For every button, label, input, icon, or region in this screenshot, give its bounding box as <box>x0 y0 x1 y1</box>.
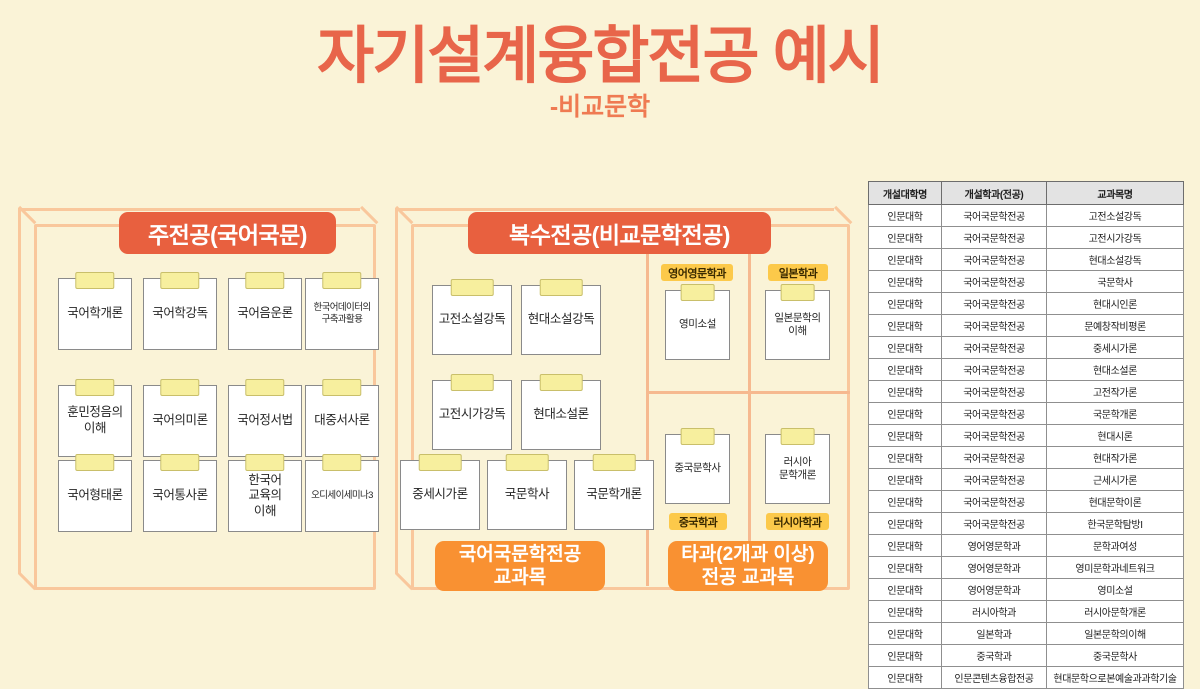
card-tab-icon <box>322 272 361 289</box>
table-cell-department: 국어국문학전공 <box>942 381 1047 403</box>
course-table: 개설대학명 개설학과(전공) 교과목명 인문대학국어국문학전공고전소설강독인문대… <box>868 181 1184 689</box>
table-cell-college: 인문대학 <box>869 491 942 513</box>
course-label: 국어음운론 <box>234 306 296 322</box>
table-cell-college: 인문대학 <box>869 205 942 227</box>
footer-other-dept-courses[interactable]: 타과(2개과 이상)전공 교과목 <box>668 541 828 591</box>
title-area: 자기설계융합전공 예시 -비교문학 <box>0 24 1200 120</box>
course-card[interactable]: 국어음운론 <box>228 278 302 350</box>
card-tab-icon <box>160 454 199 471</box>
section-header-double-major[interactable]: 복수전공(비교문학전공) <box>468 212 771 254</box>
table-cell-course: 러시아문학개론 <box>1047 601 1184 623</box>
course-label: 한국어교육의이해 <box>245 473 284 520</box>
course-label: 국어학개론 <box>64 306 126 322</box>
course-card[interactable]: 국문학사 <box>487 460 567 530</box>
table-row: 인문대학국어국문학전공고전시가강독 <box>869 227 1184 249</box>
course-label: 국문학개론 <box>583 487 645 503</box>
card-tab-icon <box>780 428 815 445</box>
table-cell-course: 한국문학탐방I <box>1047 513 1184 535</box>
table-cell-department: 국어국문학전공 <box>942 227 1047 249</box>
course-label: 대중서사론 <box>311 413 373 429</box>
table-row: 인문대학국어국문학전공현대시인론 <box>869 293 1184 315</box>
course-card[interactable]: 고전시가강독 <box>432 380 512 450</box>
table-cell-course: 근세시가론 <box>1047 469 1184 491</box>
double-major-vertical-divider <box>646 226 649 586</box>
course-card[interactable]: 오디세이세미나3 <box>305 460 379 532</box>
course-label: 영미소설 <box>676 318 719 331</box>
table-cell-college: 인문대학 <box>869 403 942 425</box>
table-cell-course: 영미소설 <box>1047 579 1184 601</box>
table-cell-department: 국어국문학전공 <box>942 205 1047 227</box>
table-cell-college: 인문대학 <box>869 337 942 359</box>
course-card[interactable]: 국어통사론 <box>143 460 217 532</box>
card-tab-icon <box>75 379 114 396</box>
table-cell-course: 고전시가강독 <box>1047 227 1184 249</box>
table-cell-course: 고전소설강독 <box>1047 205 1184 227</box>
course-card[interactable]: 한국어교육의이해 <box>228 460 302 532</box>
course-label: 훈민정음의이해 <box>64 405 126 436</box>
table-cell-course: 현대시론 <box>1047 425 1184 447</box>
course-label: 현대소설론 <box>530 407 592 423</box>
course-label: 러시아문학개론 <box>776 456 819 482</box>
table-cell-course: 현대시인론 <box>1047 293 1184 315</box>
table-cell-college: 인문대학 <box>869 601 942 623</box>
table-cell-course: 국문학사 <box>1047 271 1184 293</box>
card-tab-icon <box>322 379 361 396</box>
table-cell-college: 인문대학 <box>869 535 942 557</box>
card-tab-icon <box>680 428 715 445</box>
table-cell-college: 인문대학 <box>869 315 942 337</box>
card-tab-icon <box>245 272 284 289</box>
table-cell-department: 국어국문학전공 <box>942 491 1047 513</box>
table-cell-course: 중세시가론 <box>1047 337 1184 359</box>
table-cell-college: 인문대학 <box>869 425 942 447</box>
course-label: 국어정서법 <box>234 413 296 429</box>
page-subtitle: -비교문학 <box>0 95 1200 120</box>
table-cell-course: 국문학개론 <box>1047 403 1184 425</box>
table-row: 인문대학영어영문학과영미문학과네트워크 <box>869 557 1184 579</box>
course-card[interactable]: 고전소설강독 <box>432 285 512 355</box>
table-cell-college: 인문대학 <box>869 447 942 469</box>
card-tab-icon <box>75 454 114 471</box>
course-label: 현대소설강독 <box>525 312 598 328</box>
table-cell-department: 국어국문학전공 <box>942 359 1047 381</box>
course-label: 국어학강독 <box>149 306 211 322</box>
table-row: 인문대학영어영문학과문학과여성 <box>869 535 1184 557</box>
table-cell-college: 인문대학 <box>869 381 942 403</box>
table-cell-department: 국어국문학전공 <box>942 403 1047 425</box>
course-card[interactable]: 국어학강독 <box>143 278 217 350</box>
table-cell-department: 국어국문학전공 <box>942 425 1047 447</box>
card-tab-icon <box>160 272 199 289</box>
table-row: 인문대학일본학과일본문학의이해 <box>869 623 1184 645</box>
table-cell-department: 러시아학과 <box>942 601 1047 623</box>
table-cell-department: 국어국문학전공 <box>942 293 1047 315</box>
course-label: 국어형태론 <box>64 488 126 504</box>
table-cell-college: 인문대학 <box>869 227 942 249</box>
table-row: 인문대학국어국문학전공국문학사 <box>869 271 1184 293</box>
card-tab-icon <box>75 272 114 289</box>
course-label: 중세시가론 <box>409 487 471 503</box>
table-body: 인문대학국어국문학전공고전소설강독인문대학국어국문학전공고전시가강독인문대학국어… <box>869 205 1184 689</box>
table-cell-department: 중국학과 <box>942 645 1047 667</box>
table-cell-college: 인문대학 <box>869 645 942 667</box>
table-cell-department: 국어국문학전공 <box>942 469 1047 491</box>
table-cell-department: 국어국문학전공 <box>942 315 1047 337</box>
card-tab-icon <box>506 454 549 471</box>
card-tab-icon <box>419 454 462 471</box>
table-cell-department: 국어국문학전공 <box>942 249 1047 271</box>
other-dept-vertical-divider <box>748 226 751 586</box>
table-cell-department: 국어국문학전공 <box>942 271 1047 293</box>
table-cell-college: 인문대학 <box>869 579 942 601</box>
page-title: 자기설계융합전공 예시 <box>0 24 1200 89</box>
table-cell-department: 일본학과 <box>942 623 1047 645</box>
table-row: 인문대학국어국문학전공한국문학탐방I <box>869 513 1184 535</box>
course-card[interactable]: 훈민정음의이해 <box>58 385 132 457</box>
table-row: 인문대학국어국문학전공고전소설강독 <box>869 205 1184 227</box>
card-tab-icon <box>451 279 494 296</box>
table-cell-college: 인문대학 <box>869 359 942 381</box>
table-cell-course: 영미문학과네트워크 <box>1047 557 1184 579</box>
table-header-department: 개설학과(전공) <box>942 182 1047 205</box>
table-cell-college: 인문대학 <box>869 623 942 645</box>
course-card[interactable]: 중국문학사 <box>665 434 730 504</box>
course-card[interactable]: 국어의미론 <box>143 385 217 457</box>
table-row: 인문대학국어국문학전공현대소설론 <box>869 359 1184 381</box>
table-row: 인문대학중국학과중국문학사 <box>869 645 1184 667</box>
table-cell-department: 국어국문학전공 <box>942 513 1047 535</box>
table-row: 인문대학국어국문학전공고전작가론 <box>869 381 1184 403</box>
course-label: 고전시가강독 <box>436 407 509 423</box>
table-cell-college: 인문대학 <box>869 469 942 491</box>
table-header-college: 개설대학명 <box>869 182 942 205</box>
card-tab-icon <box>593 454 636 471</box>
table-cell-college: 인문대학 <box>869 557 942 579</box>
course-label: 고전소설강독 <box>436 312 509 328</box>
course-card[interactable]: 국어형태론 <box>58 460 132 532</box>
card-tab-icon <box>780 284 815 301</box>
card-tab-icon <box>540 374 583 391</box>
table-row: 인문대학국어국문학전공근세시가론 <box>869 469 1184 491</box>
course-label: 국어의미론 <box>149 413 211 429</box>
card-tab-icon <box>322 454 361 471</box>
table-row: 인문대학러시아학과러시아문학개론 <box>869 601 1184 623</box>
table-cell-college: 인문대학 <box>869 293 942 315</box>
table-row: 인문대학국어국문학전공현대소설강독 <box>869 249 1184 271</box>
table-cell-course: 고전작가론 <box>1047 381 1184 403</box>
course-label: 국어통사론 <box>149 488 211 504</box>
table-row: 인문대학국어국문학전공중세시가론 <box>869 337 1184 359</box>
table-cell-course: 현대작가론 <box>1047 447 1184 469</box>
table-row: 인문대학영어영문학과영미소설 <box>869 579 1184 601</box>
course-card[interactable]: 일본문학의이해 <box>765 290 830 360</box>
table-cell-course: 현대문학이론 <box>1047 491 1184 513</box>
course-card[interactable]: 대중서사론 <box>305 385 379 457</box>
course-card[interactable]: 현대소설론 <box>521 380 601 450</box>
card-tab-icon <box>245 379 284 396</box>
course-card[interactable]: 현대소설강독 <box>521 285 601 355</box>
table-cell-course: 현대소설강독 <box>1047 249 1184 271</box>
card-tab-icon <box>245 454 284 471</box>
card-tab-icon <box>540 279 583 296</box>
dept-badge-russian: 러시아학과 <box>766 513 829 530</box>
table-cell-college: 인문대학 <box>869 513 942 535</box>
table-cell-course: 문학과여성 <box>1047 535 1184 557</box>
course-card[interactable]: 국어학개론 <box>58 278 132 350</box>
table-row: 인문대학국어국문학전공현대시론 <box>869 425 1184 447</box>
course-label: 중국문학사 <box>671 462 723 475</box>
table-cell-course: 중국문학사 <box>1047 645 1184 667</box>
course-card[interactable]: 영미소설 <box>665 290 730 360</box>
table-row: 인문대학국어국문학전공국문학개론 <box>869 403 1184 425</box>
table-cell-college: 인문대학 <box>869 271 942 293</box>
table-cell-course: 일본문학의이해 <box>1047 623 1184 645</box>
table-header-row: 개설대학명 개설학과(전공) 교과목명 <box>869 182 1184 205</box>
dept-badge-chinese: 중국학과 <box>669 513 727 530</box>
table-cell-department: 영어영문학과 <box>942 557 1047 579</box>
course-card[interactable]: 국어정서법 <box>228 385 302 457</box>
course-label: 국문학사 <box>502 487 552 503</box>
section-header-main-major[interactable]: 주전공(국어국문) <box>119 212 336 254</box>
table-cell-department: 국어국문학전공 <box>942 337 1047 359</box>
table-row: 인문대학국어국문학전공문예창작비평론 <box>869 315 1184 337</box>
dept-badge-japanese: 일본학과 <box>768 264 828 281</box>
table-row: 인문대학국어국문학전공현대작가론 <box>869 447 1184 469</box>
dept-badge-english: 영어영문학과 <box>661 264 733 281</box>
table-cell-course: 문예창작비평론 <box>1047 315 1184 337</box>
table-cell-college: 인문대학 <box>869 249 942 271</box>
table-cell-department: 국어국문학전공 <box>942 447 1047 469</box>
table-cell-department: 영어영문학과 <box>942 535 1047 557</box>
table-row: 인문대학국어국문학전공현대문학이론 <box>869 491 1184 513</box>
table-cell-course: 현대소설론 <box>1047 359 1184 381</box>
course-label: 한국어데이터의구축과활용 <box>311 302 374 326</box>
course-card[interactable]: 한국어데이터의구축과활용 <box>305 278 379 350</box>
table-cell-department: 영어영문학과 <box>942 579 1047 601</box>
course-label: 오디세이세미나3 <box>308 490 376 502</box>
footer-korean-lit-courses[interactable]: 국어국문학전공교과목 <box>435 541 605 591</box>
course-card[interactable]: 러시아문학개론 <box>765 434 830 504</box>
course-card[interactable]: 중세시가론 <box>400 460 480 530</box>
table-header-course: 교과목명 <box>1047 182 1184 205</box>
card-tab-icon <box>680 284 715 301</box>
course-card[interactable]: 국문학개론 <box>574 460 654 530</box>
course-label: 일본문학의이해 <box>771 312 823 338</box>
card-tab-icon <box>451 374 494 391</box>
card-tab-icon <box>160 379 199 396</box>
